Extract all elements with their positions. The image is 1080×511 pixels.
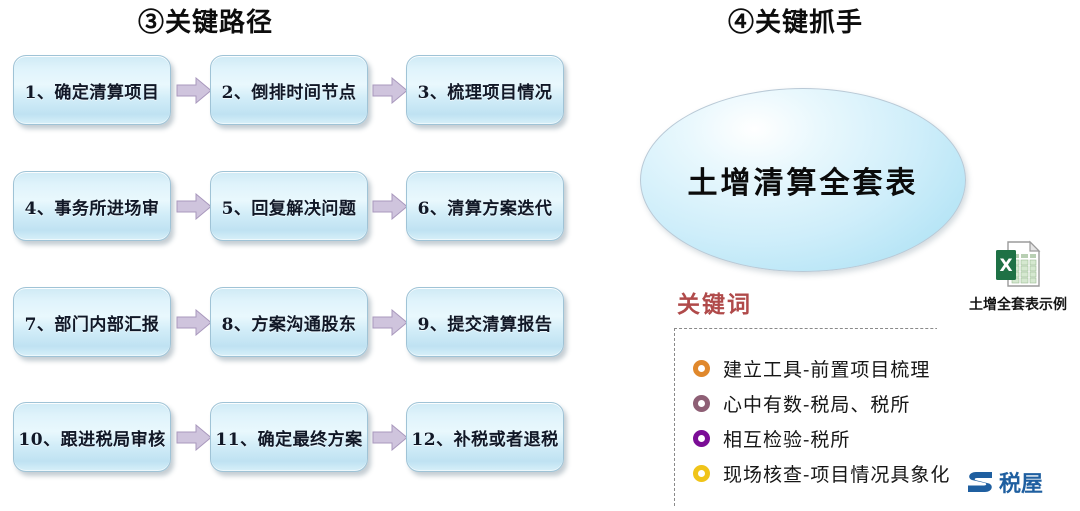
flow-arrow-icon [372, 77, 408, 104]
flowchart-row: 7、部门内部汇报 8、方案沟通股东 9、提交清算报告 [0, 287, 600, 357]
flow-arrow-icon [372, 424, 408, 451]
svg-text:X: X [999, 256, 1012, 276]
flow-step-box[interactable]: 4、事务所进场审 [13, 171, 171, 241]
flow-step-label: 11、确定最终方案 [215, 425, 362, 450]
flow-step-box[interactable]: 8、方案沟通股东 [210, 287, 368, 357]
keyword-text: 建立工具-前置项目梳理 [723, 355, 930, 382]
flow-step-box[interactable]: 1、确定清算项目 [13, 55, 171, 125]
flow-step-box[interactable]: 11、确定最终方案 [210, 402, 368, 472]
bullet-ring-icon [693, 360, 710, 377]
excel-file-icon-svg: X [994, 240, 1042, 290]
flow-step-label: 7、部门内部汇报 [25, 310, 160, 335]
flow-arrow-icon [372, 309, 408, 336]
flow-step-box[interactable]: 7、部门内部汇报 [13, 287, 171, 357]
flow-step-label: 9、提交清算报告 [418, 310, 553, 335]
flow-step-box[interactable]: 9、提交清算报告 [406, 287, 564, 357]
flow-step-label: 3、梳理项目情况 [418, 78, 553, 103]
bullet-ring-icon [693, 395, 710, 412]
flowchart-row: 1、确定清算项目 2、倒排时间节点 3、梳理项目情况 [0, 55, 600, 125]
flow-step-label: 8、方案沟通股东 [222, 310, 357, 335]
full-table-oval-label: 土增清算全套表 [688, 158, 919, 202]
watermark-logo: 税屋 [965, 466, 1043, 498]
bullet-ring-icon [693, 430, 710, 447]
list-item[interactable]: 现场核查-项目情况具象化 [693, 456, 950, 491]
flow-arrow-icon [176, 309, 212, 336]
flow-step-label: 10、跟进税局审核 [18, 425, 165, 450]
flow-step-label: 2、倒排时间节点 [222, 78, 357, 103]
section-title-key-path: ③关键路径 [138, 2, 273, 39]
flow-arrow-icon [372, 193, 408, 220]
keywords-list: 建立工具-前置项目梳理 心中有数-税局、税所 相互检验-税所 现场核查-项目情况… [693, 351, 950, 491]
keyword-text: 相互检验-税所 [723, 425, 850, 452]
excel-sample-caption: 土增全套表示例 [958, 294, 1078, 314]
flow-step-label: 12、补税或者退税 [411, 425, 558, 450]
flowchart-row: 10、跟进税局审核 11、确定最终方案 12、补税或者退税 [0, 402, 600, 472]
flow-step-box[interactable]: 3、梳理项目情况 [406, 55, 564, 125]
swoosh-s-logo-icon [965, 469, 995, 495]
flow-step-box[interactable]: 10、跟进税局审核 [13, 402, 171, 472]
flow-arrow-icon [176, 193, 212, 220]
flow-step-label: 1、确定清算项目 [25, 78, 160, 103]
list-item[interactable]: 相互检验-税所 [693, 421, 950, 456]
flow-arrow-icon [176, 77, 212, 104]
flowchart-row: 4、事务所进场审 5、回复解决问题 6、清算方案迭代 [0, 171, 600, 241]
flow-arrow-icon [176, 424, 212, 451]
flow-step-box[interactable]: 2、倒排时间节点 [210, 55, 368, 125]
excel-file-icon[interactable]: X [958, 240, 1078, 292]
flow-step-label: 5、回复解决问题 [222, 194, 357, 219]
key-path-flowchart: 1、确定清算项目 2、倒排时间节点 3、梳理项目情况 4、事务所进场审 5、回复… [0, 40, 600, 480]
flow-step-label: 6、清算方案迭代 [418, 194, 553, 219]
keywords-heading: 关键词 [677, 285, 752, 319]
flow-step-label: 4、事务所进场审 [25, 194, 160, 219]
list-item[interactable]: 建立工具-前置项目梳理 [693, 351, 950, 386]
keyword-text: 心中有数-税局、税所 [723, 390, 910, 417]
excel-sample-block[interactable]: X 土增全套表示例 [958, 240, 1078, 314]
bullet-ring-icon [693, 465, 710, 482]
full-table-oval[interactable]: 土增清算全套表 [640, 88, 966, 272]
flow-step-box[interactable]: 5、回复解决问题 [210, 171, 368, 241]
key-lever-panel: 土增清算全套表 X [620, 0, 1080, 511]
flow-step-box[interactable]: 6、清算方案迭代 [406, 171, 564, 241]
keyword-text: 现场核查-项目情况具象化 [723, 460, 950, 487]
watermark-text: 税屋 [999, 466, 1043, 498]
flow-step-box[interactable]: 12、补税或者退税 [406, 402, 564, 472]
list-item[interactable]: 心中有数-税局、税所 [693, 386, 950, 421]
